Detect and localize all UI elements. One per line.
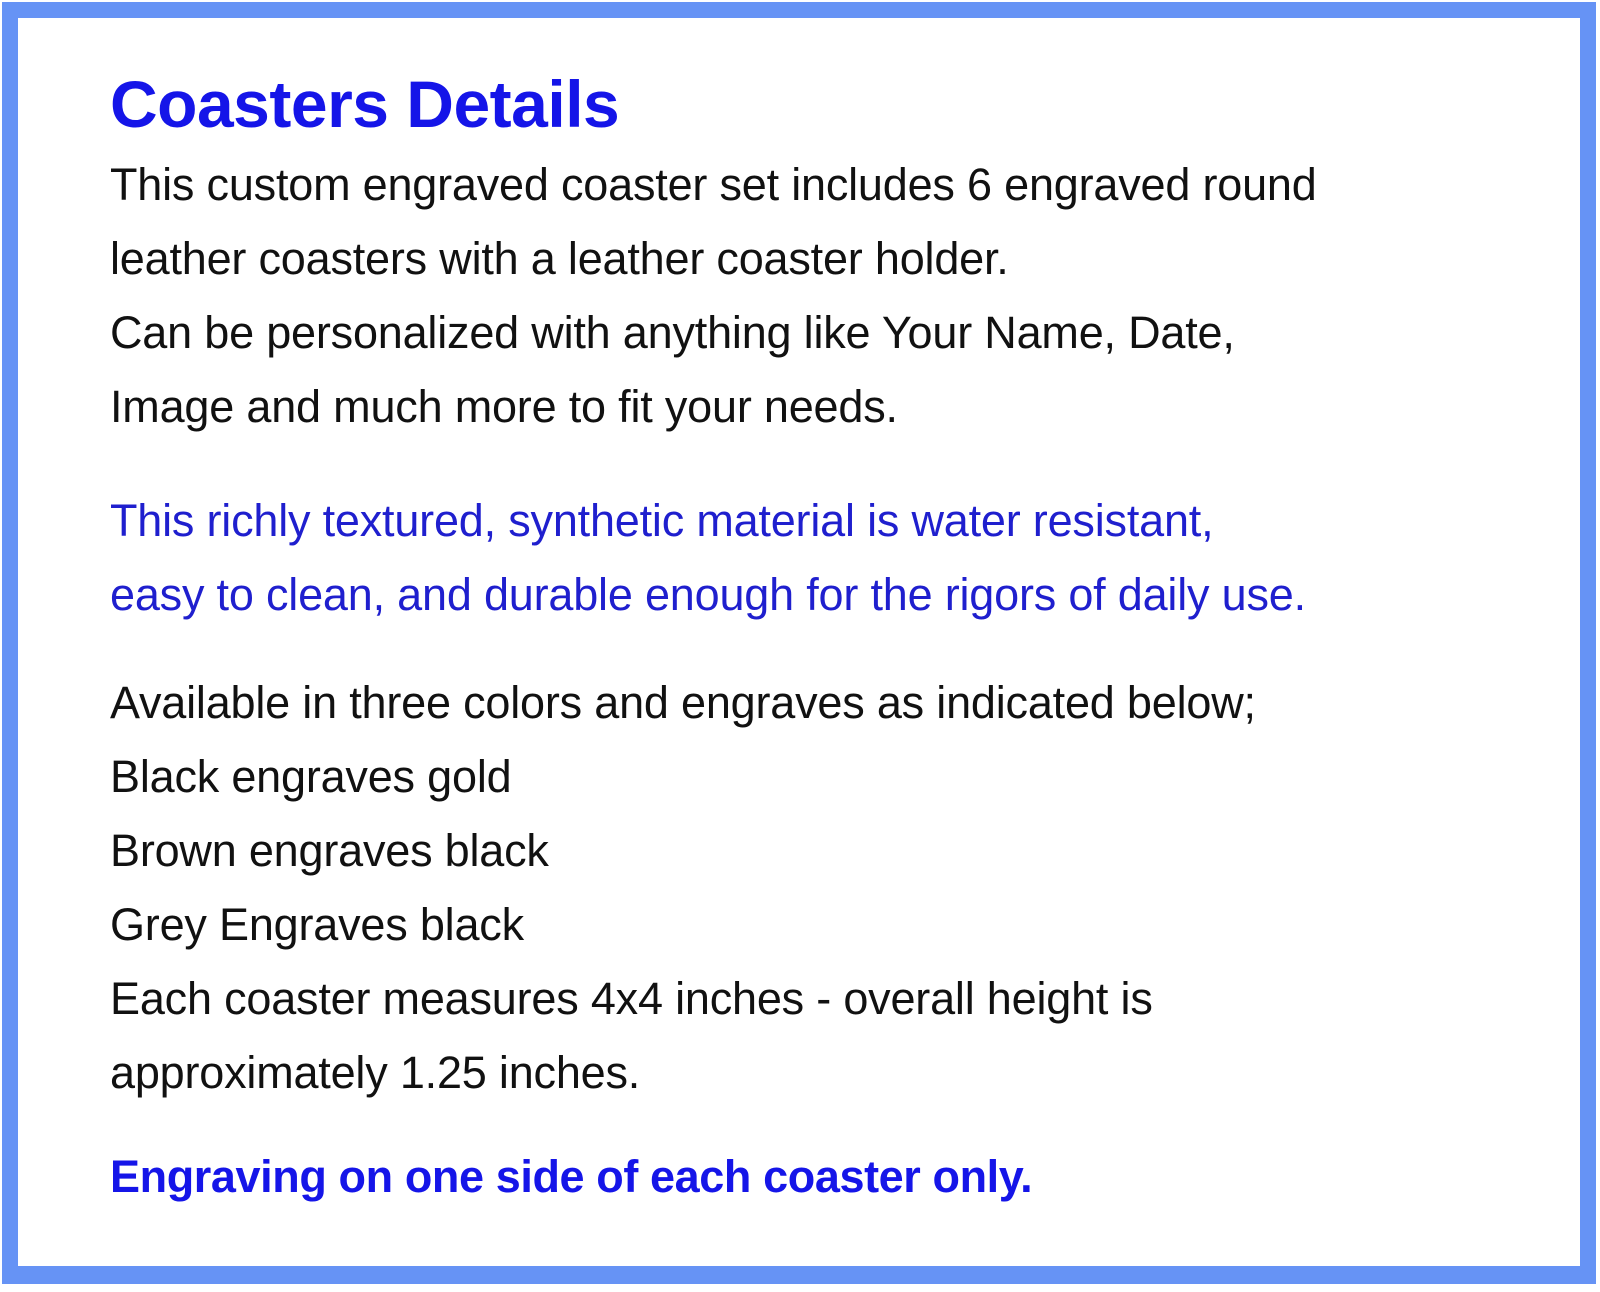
paragraph-line: This custom engraved coaster set include… (110, 148, 1540, 222)
colors-paragraph: Available in three colors and engraves a… (110, 666, 1540, 1110)
page-title: Coasters Details (110, 68, 1540, 142)
intro-paragraph: This custom engraved coaster set include… (110, 148, 1540, 444)
paragraph-line: Engraving on one side of each coaster on… (110, 1140, 1540, 1214)
color-engraving-grey: Grey Engraves black (110, 888, 1540, 962)
paragraph-line: leather coasters with a leather coaster … (110, 222, 1540, 296)
paragraph-line: Image and much more to fit your needs. (110, 370, 1540, 444)
details-content: Coasters Details This custom engraved co… (18, 18, 1580, 1266)
engraving-note-paragraph: Engraving on one side of each coaster on… (110, 1140, 1540, 1214)
paragraph-line: easy to clean, and durable enough for th… (110, 558, 1540, 632)
paragraph-line: Available in three colors and engraves a… (110, 666, 1540, 740)
paragraph-line: This richly textured, synthetic material… (110, 484, 1540, 558)
paragraph-spacer (110, 632, 1540, 666)
paragraph-spacer (110, 444, 1540, 484)
paragraph-line: Each coaster measures 4x4 inches - overa… (110, 962, 1540, 1036)
color-engraving-brown: Brown engraves black (110, 814, 1540, 888)
paragraph-line: approximately 1.25 inches. (110, 1036, 1540, 1110)
material-paragraph: This richly textured, synthetic material… (110, 484, 1540, 632)
color-engraving-black: Black engraves gold (110, 740, 1540, 814)
paragraph-line: Can be personalized with anything like Y… (110, 296, 1540, 370)
details-card: Coasters Details This custom engraved co… (2, 2, 1596, 1284)
paragraph-spacer (110, 1110, 1540, 1140)
